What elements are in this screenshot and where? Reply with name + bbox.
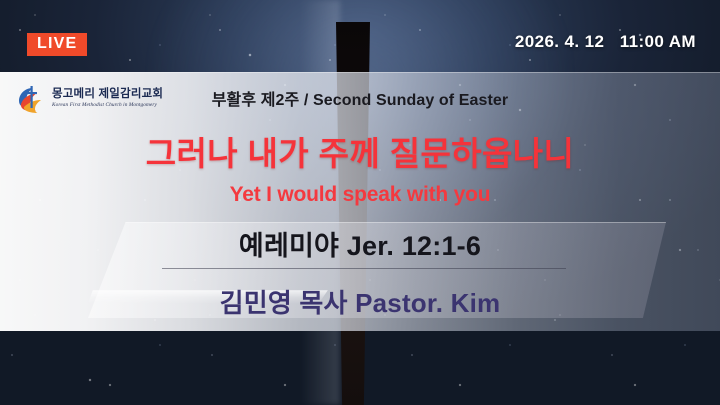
sermon-title-english: Yet I would speak with you: [0, 183, 720, 207]
content-band-top-edge: [0, 72, 720, 73]
scripture-reference: 예레미야 Jer. 12:1-6: [0, 224, 720, 263]
preacher-name: 김민영 목사 Pastor. Kim: [0, 283, 720, 320]
live-badge[interactable]: LIVE: [27, 33, 87, 56]
service-datetime: 2026. 4. 12 11:00 AM: [515, 32, 696, 52]
plate-divider: [162, 268, 566, 269]
sermon-title-korean: 그러나 내가 주께 질문하옵나니: [0, 127, 720, 175]
broadcast-slide: LIVE 2026. 4. 12 11:00 AM 몽고메리 제일감리교회 Ko…: [0, 0, 720, 405]
liturgical-season-label: 부활후 제2주 / Second Sunday of Easter: [0, 86, 720, 110]
